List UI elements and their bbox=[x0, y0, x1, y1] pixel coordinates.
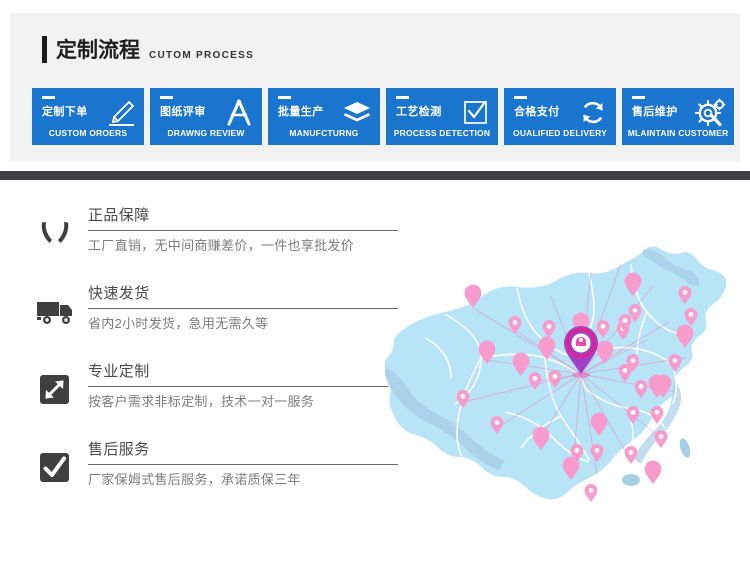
feature-item-after-sales: 售后服务 厂家保姆式售后服务，承诺质保三年 bbox=[0, 439, 420, 517]
process-card-qualified-delivery[interactable]: 合格支付 OUALIFIED DELIVERY bbox=[504, 88, 616, 145]
feature-title: 售后服务 bbox=[88, 439, 398, 465]
process-card-drawing-review[interactable]: 图纸评审 DRAWNG REVIEW bbox=[150, 88, 262, 145]
feature-title: 专业定制 bbox=[88, 361, 398, 387]
resize-arrow-icon bbox=[33, 369, 77, 411]
checkbox-icon bbox=[459, 98, 491, 128]
section-divider bbox=[0, 171, 750, 180]
feature-description: 厂家保姆式售后服务，承诺质保三年 bbox=[88, 465, 398, 492]
process-card-label-cn: 批量生产 bbox=[278, 103, 324, 119]
compass-icon bbox=[223, 98, 255, 128]
process-card-custom-orders[interactable]: 定制下单 CUSTOM OROERS bbox=[32, 88, 144, 145]
check-square-icon bbox=[33, 447, 77, 489]
feature-title: 正品保障 bbox=[88, 205, 398, 231]
section-title: 定制流程 CUTOM PROCESS bbox=[42, 33, 254, 63]
feature-description: 按客户需求非标定制，技术一对一服务 bbox=[88, 387, 398, 414]
gear-search-icon bbox=[695, 98, 727, 128]
feature-item-customization: 专业定制 按客户需求非标定制，技术一对一服务 bbox=[0, 361, 420, 439]
feature-text: 售后服务 厂家保姆式售后服务，承诺质保三年 bbox=[88, 439, 398, 492]
hands-icon bbox=[33, 213, 77, 255]
process-card-maintain-customer[interactable]: 售后维护 MLAINTAIN CUSTOMER bbox=[622, 88, 734, 145]
feature-description: 省内2小时发货，急用无需久等 bbox=[88, 309, 398, 336]
feature-description: 工厂直销，无中间商赚差价，一件也享批发价 bbox=[88, 231, 398, 258]
process-card-label-en: MLAINTAIN CUSTOMER bbox=[622, 128, 734, 138]
feature-text: 正品保障 工厂直销，无中间商赚差价，一件也享批发价 bbox=[88, 205, 398, 258]
process-card-label-en: DRAWNG REVIEW bbox=[150, 128, 262, 138]
process-card-manufacturing[interactable]: 批量生产 MANUFCTURNG bbox=[268, 88, 380, 145]
feature-title: 快速发货 bbox=[88, 283, 398, 309]
process-card-label-cn: 工艺检测 bbox=[396, 103, 442, 119]
process-panel: 定制流程 CUTOM PROCESS 定制下单 CUSTOM OROERS 图纸… bbox=[10, 13, 740, 161]
feature-text: 快速发货 省内2小时发货，急用无需久等 bbox=[88, 283, 398, 336]
title-accent-bar bbox=[42, 36, 47, 63]
process-card-label-en: PROCESS DETECTION bbox=[386, 128, 498, 138]
refresh-icon bbox=[577, 98, 609, 128]
page-title: 定制流程 bbox=[56, 39, 140, 63]
process-card-list: 定制下单 CUSTOM OROERS 图纸评审 DRAWNG REVIEW bbox=[32, 88, 734, 145]
card-dash bbox=[632, 96, 645, 99]
card-dash bbox=[42, 96, 55, 99]
card-dash bbox=[396, 96, 409, 99]
feature-item-fast-shipping: 快速发货 省内2小时发货，急用无需久等 bbox=[0, 283, 420, 361]
process-card-label-en: MANUFCTURNG bbox=[268, 128, 380, 138]
layers-icon bbox=[341, 98, 373, 128]
china-distribution-map bbox=[385, 212, 750, 522]
process-card-label-cn: 定制下单 bbox=[42, 103, 88, 119]
card-dash bbox=[514, 96, 527, 99]
truck-icon bbox=[33, 291, 77, 333]
feature-item-authenticity: 正品保障 工厂直销，无中间商赚差价，一件也享批发价 bbox=[0, 205, 420, 283]
process-card-process-detection[interactable]: 工艺检测 PROCESS DETECTION bbox=[386, 88, 498, 145]
card-dash bbox=[160, 96, 173, 99]
pencil-icon bbox=[105, 98, 137, 128]
process-card-label-cn: 合格支付 bbox=[514, 103, 560, 119]
process-card-label-en: CUSTOM OROERS bbox=[32, 128, 144, 138]
feature-text: 专业定制 按客户需求非标定制，技术一对一服务 bbox=[88, 361, 398, 414]
page-subtitle: CUTOM PROCESS bbox=[149, 50, 254, 63]
card-dash bbox=[278, 96, 291, 99]
map-svg bbox=[385, 212, 750, 522]
process-card-label-cn: 图纸评审 bbox=[160, 103, 206, 119]
process-card-label-en: OUALIFIED DELIVERY bbox=[504, 128, 616, 138]
process-card-label-cn: 售后维护 bbox=[632, 103, 678, 119]
feature-list: 正品保障 工厂直销，无中间商赚差价，一件也享批发价 快速发货 省内2小时发货，急… bbox=[0, 205, 420, 517]
